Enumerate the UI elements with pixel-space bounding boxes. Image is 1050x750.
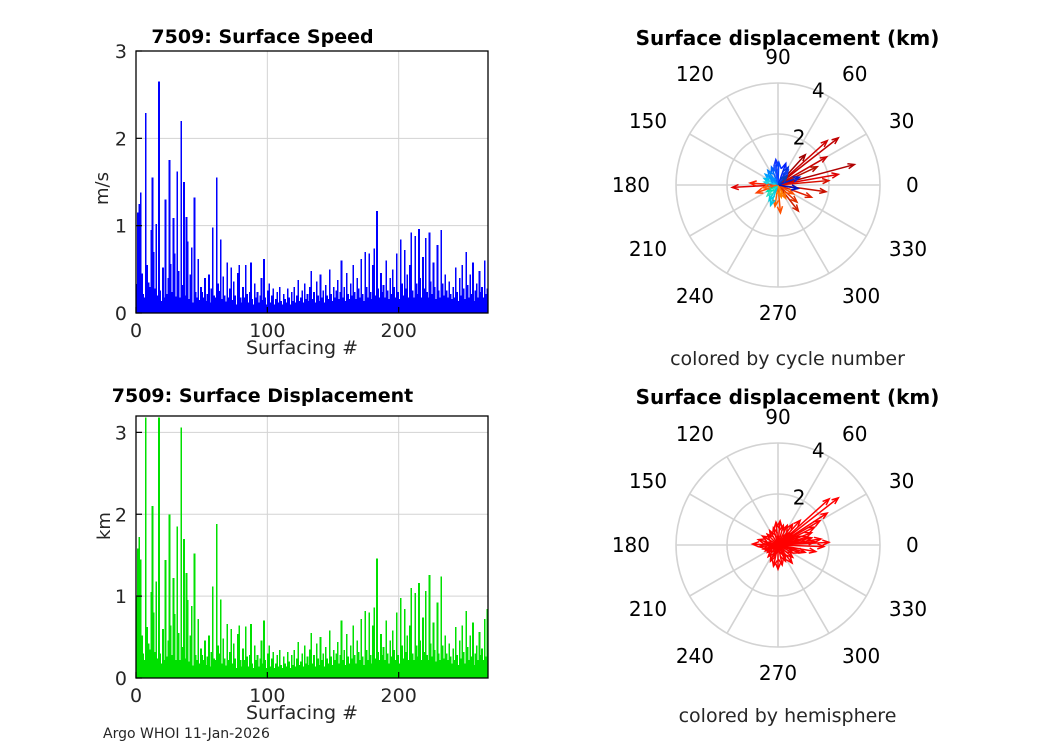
polar-theta-label: 180: [612, 173, 650, 197]
polar-cycle-title: Surface displacement (km): [525, 26, 1050, 50]
displacement-title: 7509: Surface Displacement: [0, 385, 525, 407]
polar-theta-label: 180: [612, 533, 650, 557]
polar-theta-label: 270: [759, 661, 797, 685]
polar-theta-label: 270: [759, 301, 797, 325]
speed-ylabel: m/s: [92, 172, 113, 205]
ytick-label: 3: [115, 422, 127, 444]
polar-theta-label: 240: [676, 644, 714, 668]
polar-theta-label: 150: [629, 469, 667, 493]
polar-theta-label: 120: [676, 422, 714, 446]
polar-r-label: 4: [812, 78, 825, 102]
polar-theta-label: 300: [842, 284, 880, 308]
ytick-label: 0: [115, 303, 127, 325]
xtick-label: 200: [381, 320, 417, 342]
ytick-label: 2: [115, 504, 127, 526]
displacement-ylabel: km: [94, 512, 115, 540]
panel-surface-speed: 7509: Surface Speed 01230100200 m/s Surf…: [0, 0, 525, 375]
displacement-xlabel: Surfacing #: [246, 702, 358, 724]
polar-spoke: [690, 545, 778, 596]
polar-theta-label: 120: [676, 62, 714, 86]
polar-theta-label: 330: [889, 597, 927, 621]
figure-footer: Argo WHOI 11-Jan-2026: [103, 726, 270, 742]
polar-hemisphere-svg: 030609012015018021024027030033024: [525, 375, 1050, 750]
ytick-label: 1: [115, 586, 127, 608]
polar-r-label: 2: [793, 486, 806, 510]
polar-theta-label: 60: [842, 422, 867, 446]
figure-canvas: 7509: Surface Speed 01230100200 m/s Surf…: [0, 0, 1050, 750]
polar-theta-label: 0: [906, 173, 919, 197]
polar-theta-label: 30: [889, 109, 914, 133]
polar-cycle-caption: colored by cycle number: [525, 348, 1050, 370]
panel-surface-displacement: 7509: Surface Displacement 01230100200 k…: [0, 375, 525, 750]
ytick-label: 0: [115, 668, 127, 690]
polar-r-label: 4: [812, 438, 825, 462]
polar-theta-label: 0: [906, 533, 919, 557]
xtick-label: 0: [130, 685, 142, 707]
polar-theta-label: 300: [842, 644, 880, 668]
speed-xlabel: Surfacing #: [246, 337, 358, 359]
polar-theta-label: 240: [676, 284, 714, 308]
polar-hemi-title: Surface displacement (km): [525, 385, 1050, 409]
displacement-plot-svg: 01230100200: [0, 375, 525, 750]
ytick-label: 1: [115, 216, 127, 238]
polar-theta-label: 150: [629, 109, 667, 133]
polar-spoke: [690, 134, 778, 185]
polar-theta-label: 210: [629, 597, 667, 621]
polar-theta-label: 60: [842, 62, 867, 86]
polar-spoke: [690, 185, 778, 236]
panel-polar-cycle: Surface displacement (km) 03060901201501…: [525, 0, 1050, 375]
xtick-label: 200: [381, 685, 417, 707]
xtick-label: 0: [130, 320, 142, 342]
polar-theta-label: 330: [889, 237, 927, 261]
polar-theta-label: 30: [889, 469, 914, 493]
speed-title: 7509: Surface Speed: [0, 26, 525, 48]
polar-cycle-svg: 030609012015018021024027030033024: [525, 0, 1050, 375]
ytick-label: 2: [115, 128, 127, 150]
polar-theta-label: 210: [629, 237, 667, 261]
polar-hemi-caption: colored by hemisphere: [525, 705, 1050, 727]
panel-polar-hemisphere: Surface displacement (km) 03060901201501…: [525, 375, 1050, 750]
polar-r-label: 2: [793, 126, 806, 150]
speed-plot-svg: 01230100200: [0, 0, 525, 375]
